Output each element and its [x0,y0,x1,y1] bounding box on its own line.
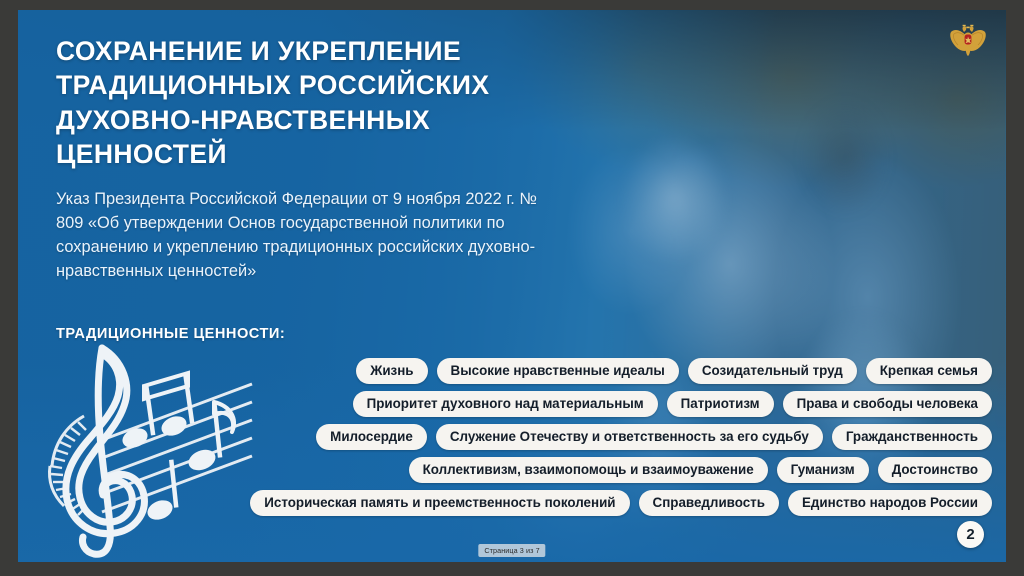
value-chip[interactable]: Гуманизм [777,457,869,483]
chip-row: Милосердие Служение Отечеству и ответств… [138,424,992,450]
presentation-slide: СОХРАНЕНИЕ И УКРЕПЛЕНИЕ ТРАДИЦИОННЫХ РОС… [18,10,1006,562]
value-chip[interactable]: Гражданственность [832,424,992,450]
value-chip[interactable]: Единство народов России [788,490,992,516]
values-section-heading: ТРАДИЦИОННЫЕ ЦЕННОСТИ: [56,326,285,342]
value-chip[interactable]: Жизнь [356,358,427,384]
value-chip[interactable]: Приоритет духовного над материальным [353,391,658,417]
page-number-badge: 2 [957,521,984,548]
chip-row: Жизнь Высокие нравственные идеалы Созида… [138,358,992,384]
value-chip[interactable]: Справедливость [639,490,779,516]
slide-content: СОХРАНЕНИЕ И УКРЕПЛЕНИЕ ТРАДИЦИОННЫХ РОС… [18,10,1006,562]
value-chip[interactable]: Коллективизм, взаимопомощь и взаимоуваже… [409,457,768,483]
slide-title: СОХРАНЕНИЕ И УКРЕПЛЕНИЕ ТРАДИЦИОННЫХ РОС… [56,34,576,172]
chip-row: Коллективизм, взаимопомощь и взаимоуваже… [138,457,992,483]
chip-row: Приоритет духовного над материальным Пат… [138,391,992,417]
value-chip[interactable]: Права и свободы человека [783,391,992,417]
page-counter-label: Страница 3 из 7 [478,544,545,557]
russian-coat-of-arms-icon [948,24,988,58]
value-chip[interactable]: Созидательный труд [688,358,857,384]
value-chip[interactable]: Патриотизм [667,391,774,417]
value-chip[interactable]: Милосердие [316,424,427,450]
value-chip[interactable]: Крепкая семья [866,358,992,384]
slide-subtitle: Указ Президента Российской Федерации от … [56,187,554,283]
value-chip[interactable]: Достоинство [878,457,992,483]
value-chip[interactable]: Служение Отечеству и ответственность за … [436,424,823,450]
screenshot-viewport: СОХРАНЕНИЕ И УКРЕПЛЕНИЕ ТРАДИЦИОННЫХ РОС… [0,0,1024,576]
traditional-values-chip-list: Жизнь Высокие нравственные идеалы Созида… [138,358,992,516]
value-chip[interactable]: Высокие нравственные идеалы [437,358,679,384]
value-chip[interactable]: Историческая память и преемственность по… [250,490,629,516]
chip-row: Историческая память и преемственность по… [138,490,992,516]
